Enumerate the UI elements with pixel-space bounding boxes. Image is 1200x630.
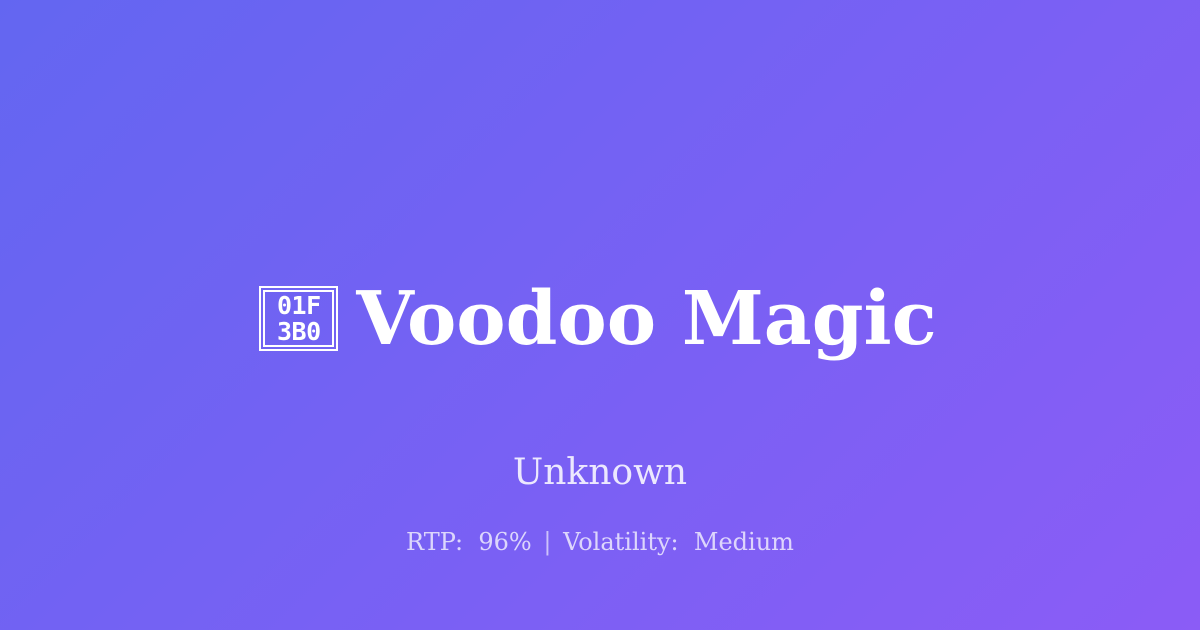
tofu-codepoint-bottom: 3B0 xyxy=(277,319,321,345)
rtp-value: 96% xyxy=(478,528,531,556)
title-row: 01F 3B0 Voodoo Magic xyxy=(263,232,936,405)
og-card: 01F 3B0 Voodoo Magic Unknown RTP: 96% | … xyxy=(0,0,1200,630)
hero-block: 01F 3B0 Voodoo Magic Unknown xyxy=(0,232,1200,491)
stats-separator: | xyxy=(539,528,555,556)
tofu-codepoint-top: 01F xyxy=(277,293,321,319)
volatility-value: Medium xyxy=(694,528,794,556)
volatility-label: Volatility: xyxy=(563,528,679,556)
provider-name: Unknown xyxy=(513,455,687,491)
rtp-label: RTP: xyxy=(406,528,463,556)
game-title: Voodoo Magic xyxy=(356,282,936,356)
slot-machine-emoji-icon: 01F 3B0 xyxy=(263,290,334,347)
game-stats-line: RTP: 96% | Volatility: Medium xyxy=(0,528,1200,556)
